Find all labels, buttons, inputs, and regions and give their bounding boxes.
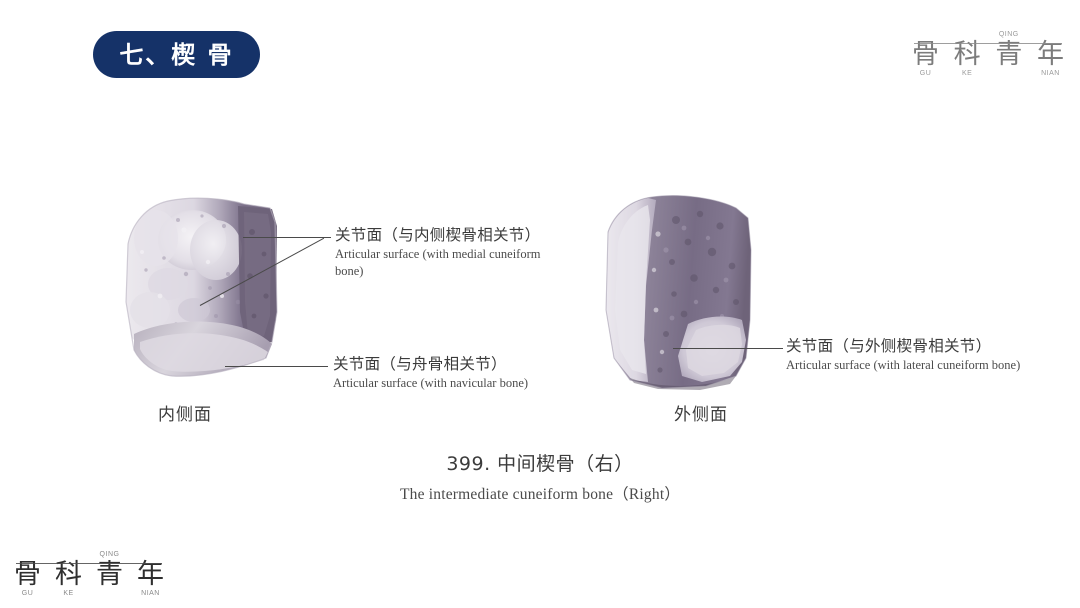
callout-label-cn: 关节面（与外侧楔骨相关节）	[786, 337, 1048, 356]
watermark-char: 骨 GU	[912, 41, 939, 68]
view-caption-medial-text: 内侧面	[158, 405, 212, 425]
watermark-pinyin: KE	[63, 590, 73, 597]
watermark-pinyin: QING	[999, 31, 1019, 38]
leader-line-articular-medial-cuneiform	[243, 237, 331, 238]
callout-label-cn: 关节面（与舟骨相关节）	[333, 355, 583, 374]
watermark-top-right: 骨 GU 科 KE 青 QING 年 NIAN	[912, 16, 1064, 68]
watermark-pinyin: KE	[962, 70, 972, 77]
view-caption-lateral: 外侧面	[674, 400, 728, 425]
watermark-char: 年 NIAN	[1037, 41, 1064, 68]
watermark-char: 青 QING	[995, 41, 1022, 68]
page-title: 七、楔 骨	[119, 43, 233, 67]
watermark-pinyin: QING	[100, 551, 120, 558]
figure-caption-cn: 399. 中间楔骨（右）	[0, 450, 1080, 479]
watermark-pinyin: NIAN	[141, 590, 160, 597]
section-title-badge: 七、楔 骨	[93, 31, 260, 78]
callout-articular-navicular: 关节面（与舟骨相关节） Articular surface (with navi…	[333, 355, 583, 392]
bone-photo-lateral-view	[596, 190, 764, 395]
watermark-char: 年 NIAN	[137, 561, 164, 588]
view-caption-medial: 内侧面	[158, 400, 212, 425]
callout-label-en: Articular surface (with lateral cuneifor…	[786, 357, 1048, 373]
callout-label-en: Articular surface (with medial cuneiform…	[335, 246, 565, 279]
watermark-pinyin: GU	[920, 70, 932, 77]
callout-articular-lateral-cuneiform: 关节面（与外侧楔骨相关节） Articular surface (with la…	[786, 337, 1048, 374]
callout-label-cn: 关节面（与内侧楔骨相关节）	[335, 226, 565, 245]
watermark-char: 骨 GU	[14, 561, 41, 588]
watermark-strike	[16, 563, 162, 564]
figure-caption: 399. 中间楔骨（右） The intermediate cuneiform …	[0, 450, 1080, 504]
leader-line-articular-navicular	[225, 366, 328, 367]
watermark-pinyin: NIAN	[1041, 70, 1060, 77]
callout-articular-medial-cuneiform: 关节面（与内侧楔骨相关节） Articular surface (with me…	[335, 226, 565, 279]
figure-caption-en: The intermediate cuneiform bone（Right）	[0, 482, 1080, 504]
callout-label-en: Articular surface (with navicular bone)	[333, 375, 583, 391]
watermark-strike	[914, 43, 1062, 44]
watermark-char: 青 QING	[96, 561, 123, 588]
watermark-char: 科 KE	[55, 561, 82, 588]
view-caption-lateral-text: 外侧面	[674, 405, 728, 425]
slide-canvas: 七、楔 骨 骨 GU 科 KE 青 QING 年 NIAN	[0, 0, 1080, 608]
watermark-pinyin: GU	[22, 590, 34, 597]
leader-line-articular-lateral-cuneiform	[673, 348, 783, 349]
watermark-bottom-left: 骨 GU 科 KE 青 QING 年 NIAN	[14, 536, 164, 588]
bone-photo-medial-view	[120, 192, 295, 392]
watermark-char: 科 KE	[954, 41, 981, 68]
